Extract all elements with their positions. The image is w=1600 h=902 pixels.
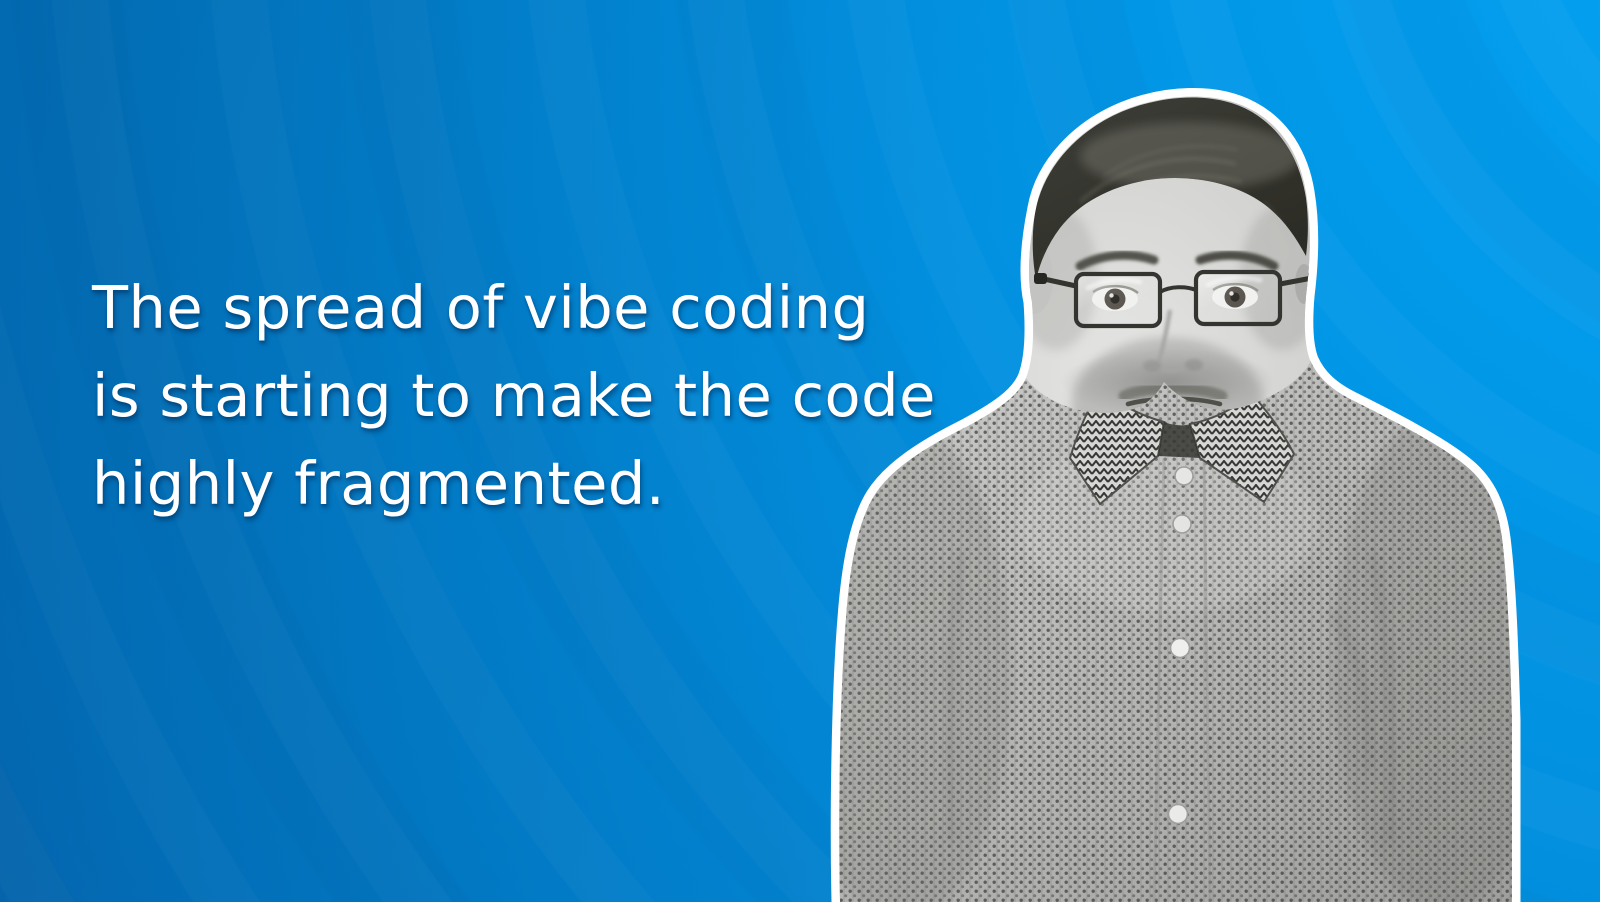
quote-line-2: is starting to make the code	[92, 352, 922, 440]
quote-line-3: highly fragmented.	[92, 440, 922, 528]
quote-text-block: The spread of vibe coding is starting to…	[92, 264, 922, 528]
quote-card: The spread of vibe coding is starting to…	[0, 0, 1600, 902]
quote-line-1: The spread of vibe coding	[92, 264, 922, 352]
